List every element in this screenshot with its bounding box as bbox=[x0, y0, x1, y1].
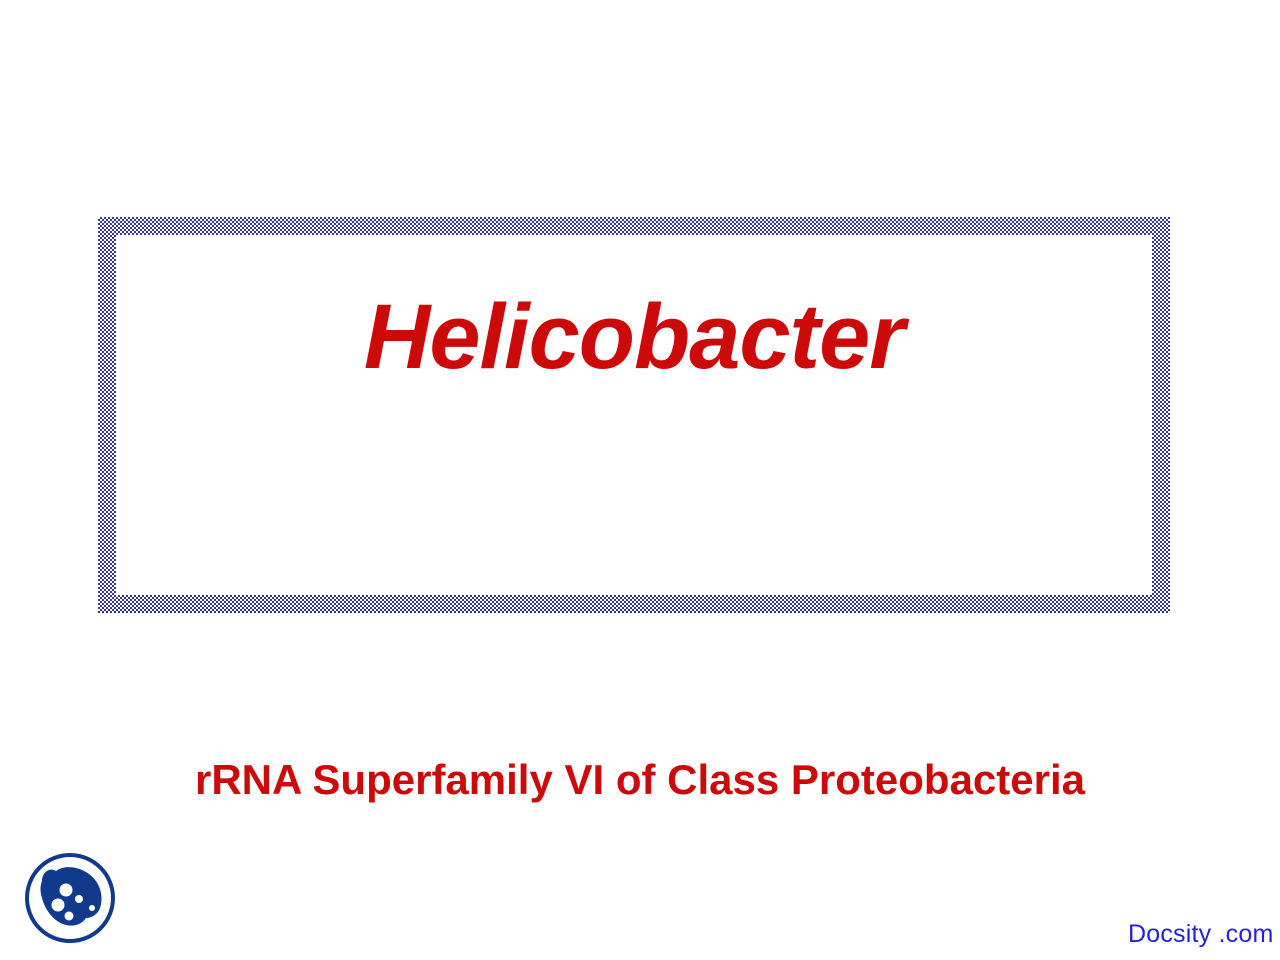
page-subtitle: rRNA Superfamily VI of Class Proteobacte… bbox=[0, 756, 1280, 804]
docsity-watermark: Docsity .com bbox=[1128, 920, 1273, 949]
page-title: Helicobacter bbox=[116, 289, 1152, 386]
title-frame-inner: Helicobacter bbox=[116, 235, 1152, 595]
title-frame: Helicobacter bbox=[98, 217, 1170, 613]
presentation-slide: Helicobacter rRNA Superfamily VI of Clas… bbox=[0, 0, 1280, 960]
bacteria-cell-logo-icon bbox=[20, 848, 120, 948]
